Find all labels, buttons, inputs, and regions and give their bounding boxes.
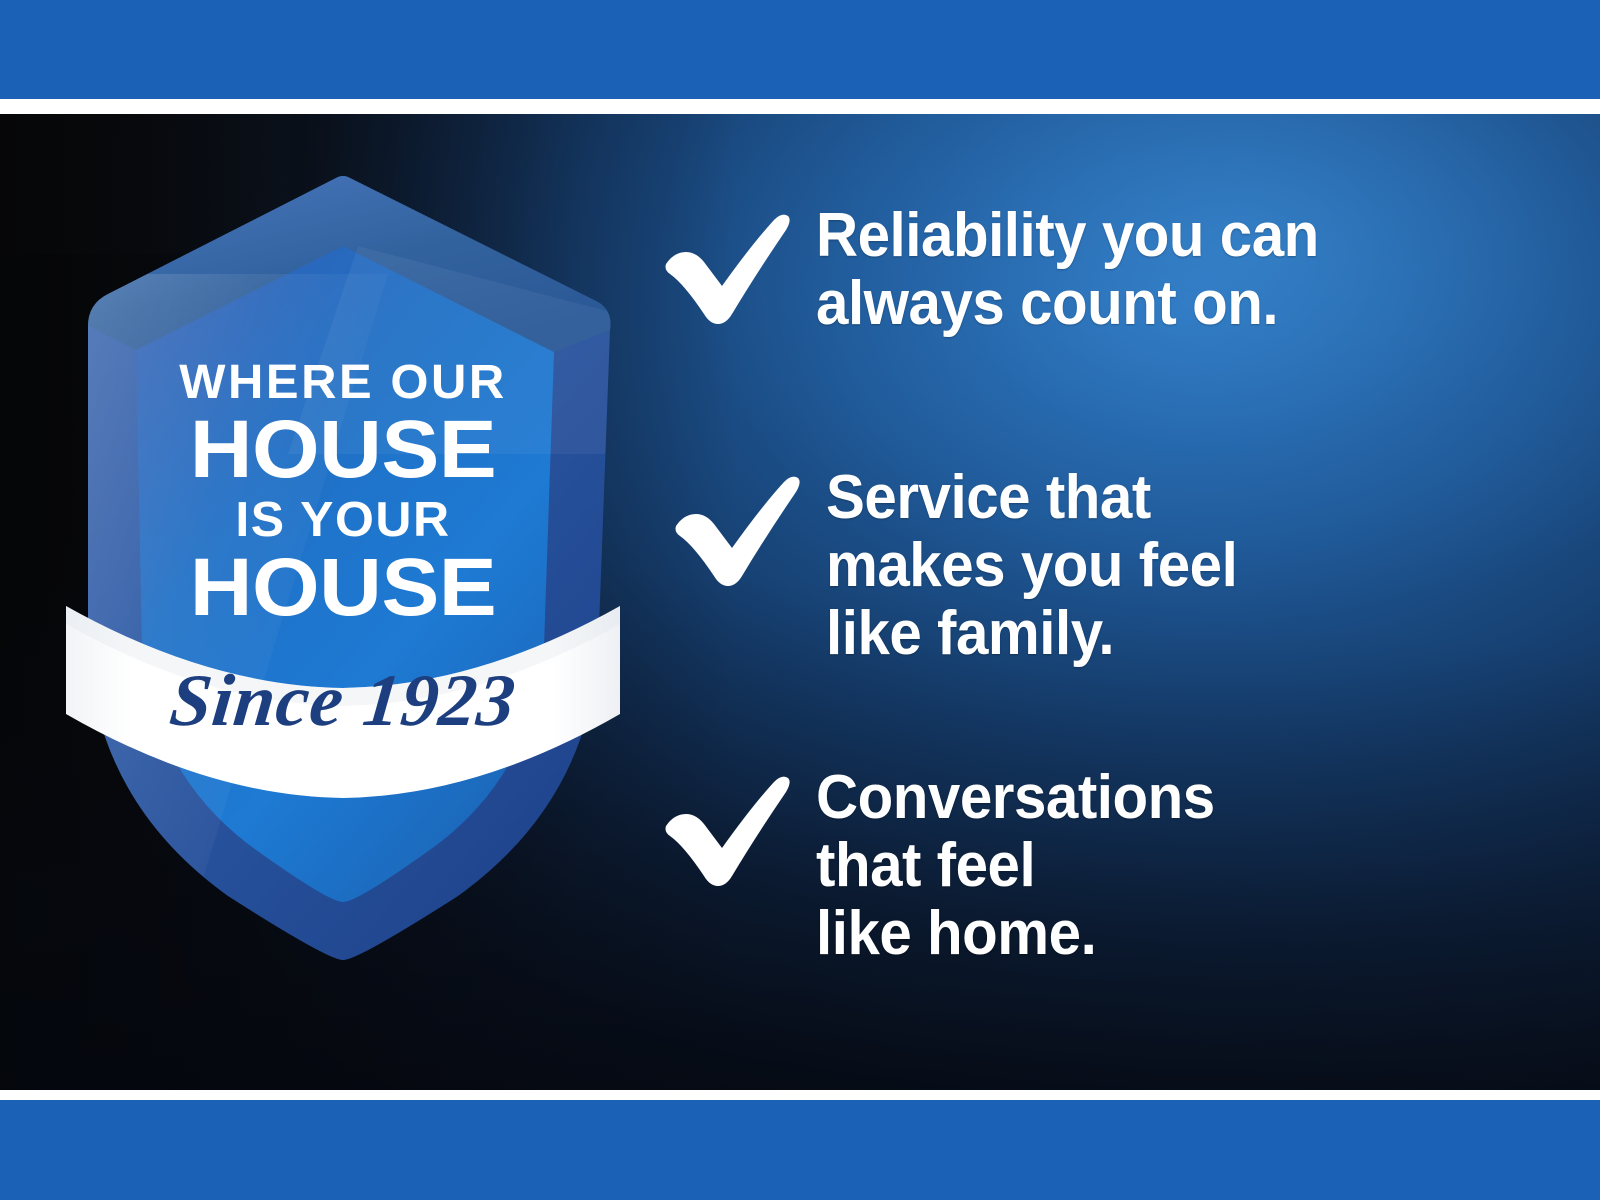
check-mark-icon	[660, 208, 792, 328]
top-white-divider	[0, 99, 1600, 114]
benefit-text: Reliability you can always count on.	[816, 202, 1319, 338]
benefit-item: Reliability you can always count on.	[660, 202, 1351, 338]
check-mark-icon	[670, 470, 802, 590]
promotional-banner: WHERE OUR HOUSE IS YOUR HOUSE Since 1923…	[0, 0, 1600, 1200]
bottom-brand-bar	[0, 1100, 1600, 1200]
benefit-item: Service that makes you feel like family.	[670, 464, 1264, 669]
benefit-item: Conversations that feel like home.	[660, 764, 1240, 969]
check-mark-icon	[660, 770, 792, 890]
benefit-text: Service that makes you feel like family.	[826, 464, 1237, 669]
bottom-white-divider	[0, 1090, 1600, 1100]
shield-badge: WHERE OUR HOUSE IS YOUR HOUSE Since 1923	[58, 154, 628, 944]
benefits-list: Reliability you can always count on. Ser…	[660, 114, 1540, 1090]
top-brand-bar	[0, 0, 1600, 99]
benefit-text: Conversations that feel like home.	[816, 764, 1215, 969]
